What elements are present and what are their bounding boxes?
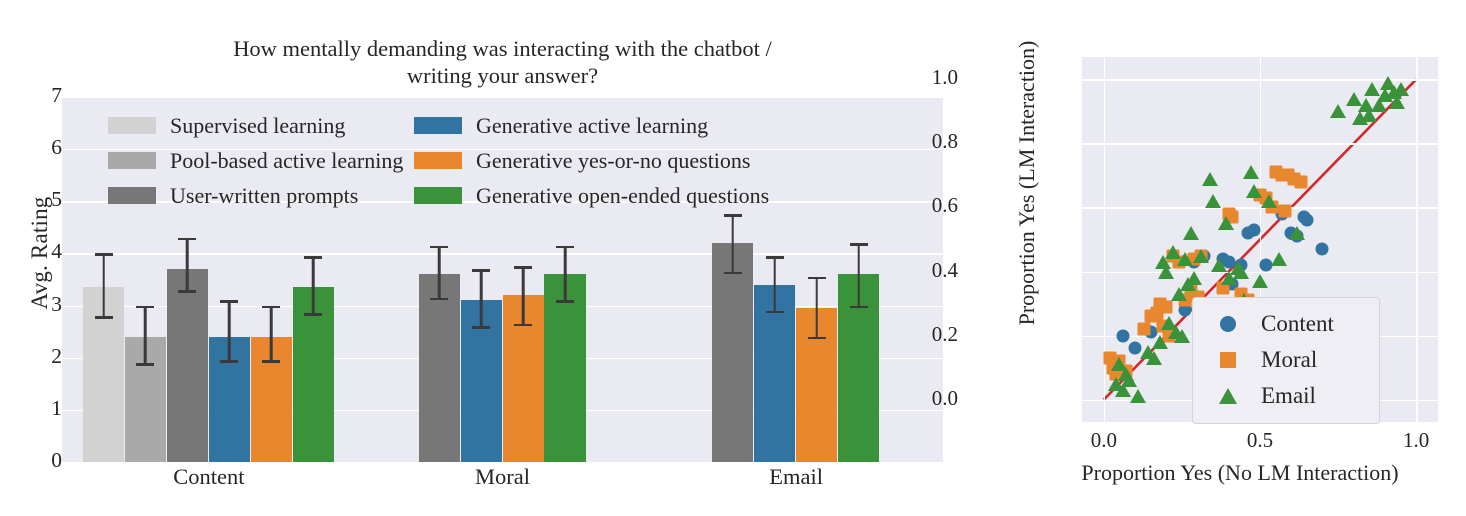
bar-legend-item: Generative open-ended questions (414, 183, 938, 209)
scatter-x-axis-label: Proportion Yes (No LM Interaction) (1020, 460, 1460, 486)
bar-legend-item: User-written prompts (108, 183, 414, 209)
scatter-y-tick-label: 0.0 (898, 386, 958, 411)
bar-chart-x-tick-email: Email (769, 464, 823, 490)
bar-legend-item: Supervised learning (108, 113, 414, 139)
bar-chart-x-tick-moral: Moral (475, 464, 530, 490)
scatter-y-tick-label: 0.6 (898, 193, 958, 218)
bar-chart-y-tick-label: 1 (22, 396, 62, 421)
bar-chart-y-tick-label: 0 (22, 448, 62, 473)
bar-legend-item: Generative active learning (414, 113, 938, 139)
bar-chart-figure: How mentally demanding was interacting w… (0, 0, 960, 516)
scatter-legend-item: Moral (1205, 342, 1369, 378)
bar-legend-label: User-written prompts (170, 183, 358, 209)
scatter-legend-label: Content (1261, 311, 1334, 337)
scatter-x-tick-label: 0.5 (1247, 428, 1273, 453)
legend-swatch-icon (414, 187, 462, 204)
scatter-plot-figure: 0.00.20.40.60.81.00.00.51.0 Proportion Y… (960, 0, 1466, 516)
bar-legend-label: Pool-based active learning (170, 148, 403, 174)
bar-legend-item: Generative yes-or-no questions (414, 148, 938, 174)
legend-triangle-icon (1205, 388, 1251, 404)
figure-page: How mentally demanding was interacting w… (0, 0, 1466, 516)
scatter-y-tick-label: 0.4 (898, 258, 958, 283)
scatter-legend-item: Email (1205, 378, 1369, 414)
legend-swatch-icon (414, 152, 462, 169)
scatter-y-tick-label: 1.0 (898, 65, 958, 90)
bar-chart-x-tick-content: Content (173, 464, 244, 490)
bar-chart-y-tick-label: 7 (22, 83, 62, 108)
scatter-y-tick-label: 0.2 (898, 322, 958, 347)
scatter-y-tick-label: 0.8 (898, 129, 958, 154)
bar-legend-label: Generative open-ended questions (476, 183, 769, 209)
scatter-legend-label: Moral (1261, 347, 1317, 373)
legend-swatch-icon (108, 117, 156, 134)
bar-legend-label: Supervised learning (170, 113, 345, 139)
scatter-legend-label: Email (1261, 383, 1316, 409)
bar-chart-legend: Supervised learningGenerative active lea… (108, 108, 938, 213)
legend-swatch-icon (108, 187, 156, 204)
bar-legend-label: Generative active learning (476, 113, 708, 139)
legend-swatch-icon (414, 117, 462, 134)
scatter-x-tick-label: 1.0 (1403, 428, 1429, 453)
legend-swatch-icon (108, 152, 156, 169)
scatter-y-axis-label: Proportion Yes (LM Interaction) (1014, 0, 1040, 378)
bar-chart-y-axis: 01234567 (0, 0, 1030, 516)
legend-circle-icon (1205, 316, 1251, 332)
scatter-legend-item: Content (1205, 306, 1369, 342)
scatter-plot-legend: ContentMoralEmail (1192, 297, 1380, 424)
legend-square-icon (1205, 352, 1251, 368)
bar-legend-item: Pool-based active learning (108, 148, 414, 174)
bar-legend-label: Generative yes-or-no questions (476, 148, 750, 174)
scatter-x-tick-label: 0.0 (1091, 428, 1117, 453)
bar-chart-y-axis-label: Avg. Rating (27, 153, 53, 353)
